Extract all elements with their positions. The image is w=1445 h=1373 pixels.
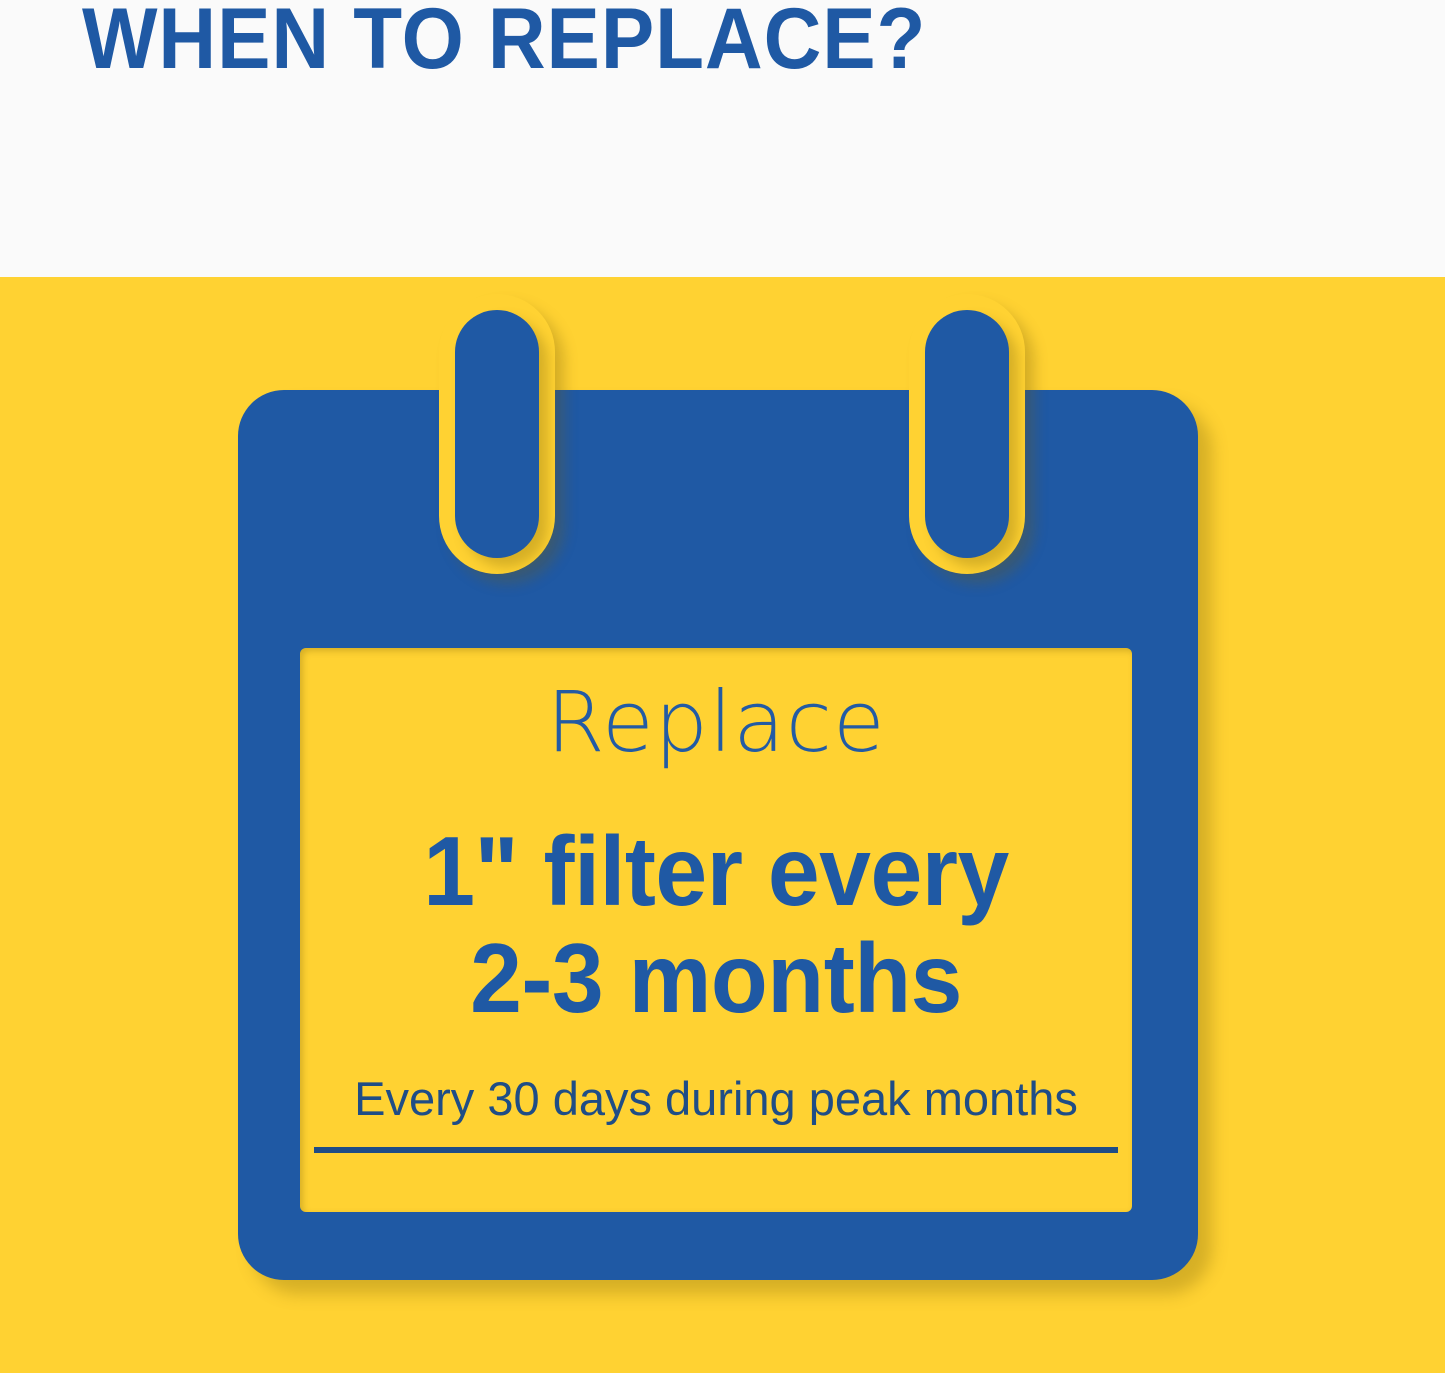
replace-heading: Replace <box>300 676 1132 768</box>
calendar-page-content: Replace 1" filter every 2-3 months Every… <box>300 648 1132 1212</box>
replace-interval-text: 1" filter every 2-3 months <box>321 818 1111 1032</box>
calendar-ring-right-pill <box>925 310 1009 558</box>
calendar-icon: Replace 1" filter every 2-3 months Every… <box>238 390 1198 1373</box>
peak-months-note: Every 30 days during peak months <box>314 1071 1118 1127</box>
header-band: WHEN TO REPLACE? <box>0 0 1445 277</box>
calendar-ring-right <box>925 310 1009 558</box>
page-title: WHEN TO REPLACE? <box>82 0 926 86</box>
replace-interval-line-2: 2-3 months <box>321 925 1111 1032</box>
calendar-ring-left-pill <box>455 310 539 558</box>
infographic-page: WHEN TO REPLACE? Replace 1" filter ev <box>0 0 1445 1373</box>
calendar-ring-left <box>455 310 539 558</box>
replace-interval-line-1: 1" filter every <box>321 818 1111 925</box>
yellow-content-panel: Replace 1" filter every 2-3 months Every… <box>0 277 1445 1373</box>
peak-months-note-underline <box>314 1147 1118 1153</box>
